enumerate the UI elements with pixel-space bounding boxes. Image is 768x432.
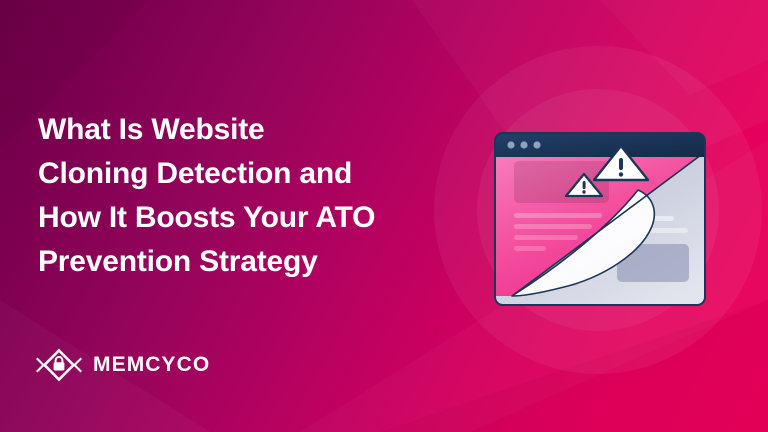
brand-wordmark: MEMCYCO [93, 353, 210, 377]
bracketed-diamond-lock-icon [36, 346, 82, 384]
headline-line-1: What Is Website [38, 108, 458, 152]
headline-line-4: Prevention Strategy [38, 240, 458, 284]
titlebar-dots [507, 141, 540, 148]
cloned-website-peel-illustration [486, 118, 714, 318]
page-title: What Is Website Cloning Detection and Ho… [38, 108, 458, 284]
headline-line-3: How It Boosts Your ATO [38, 196, 458, 240]
blog-hero-banner: What Is Website Cloning Detection and Ho… [0, 0, 768, 432]
brand-logo[interactable]: MEMCYCO [36, 346, 210, 384]
headline-line-2: Cloning Detection and [38, 152, 458, 196]
